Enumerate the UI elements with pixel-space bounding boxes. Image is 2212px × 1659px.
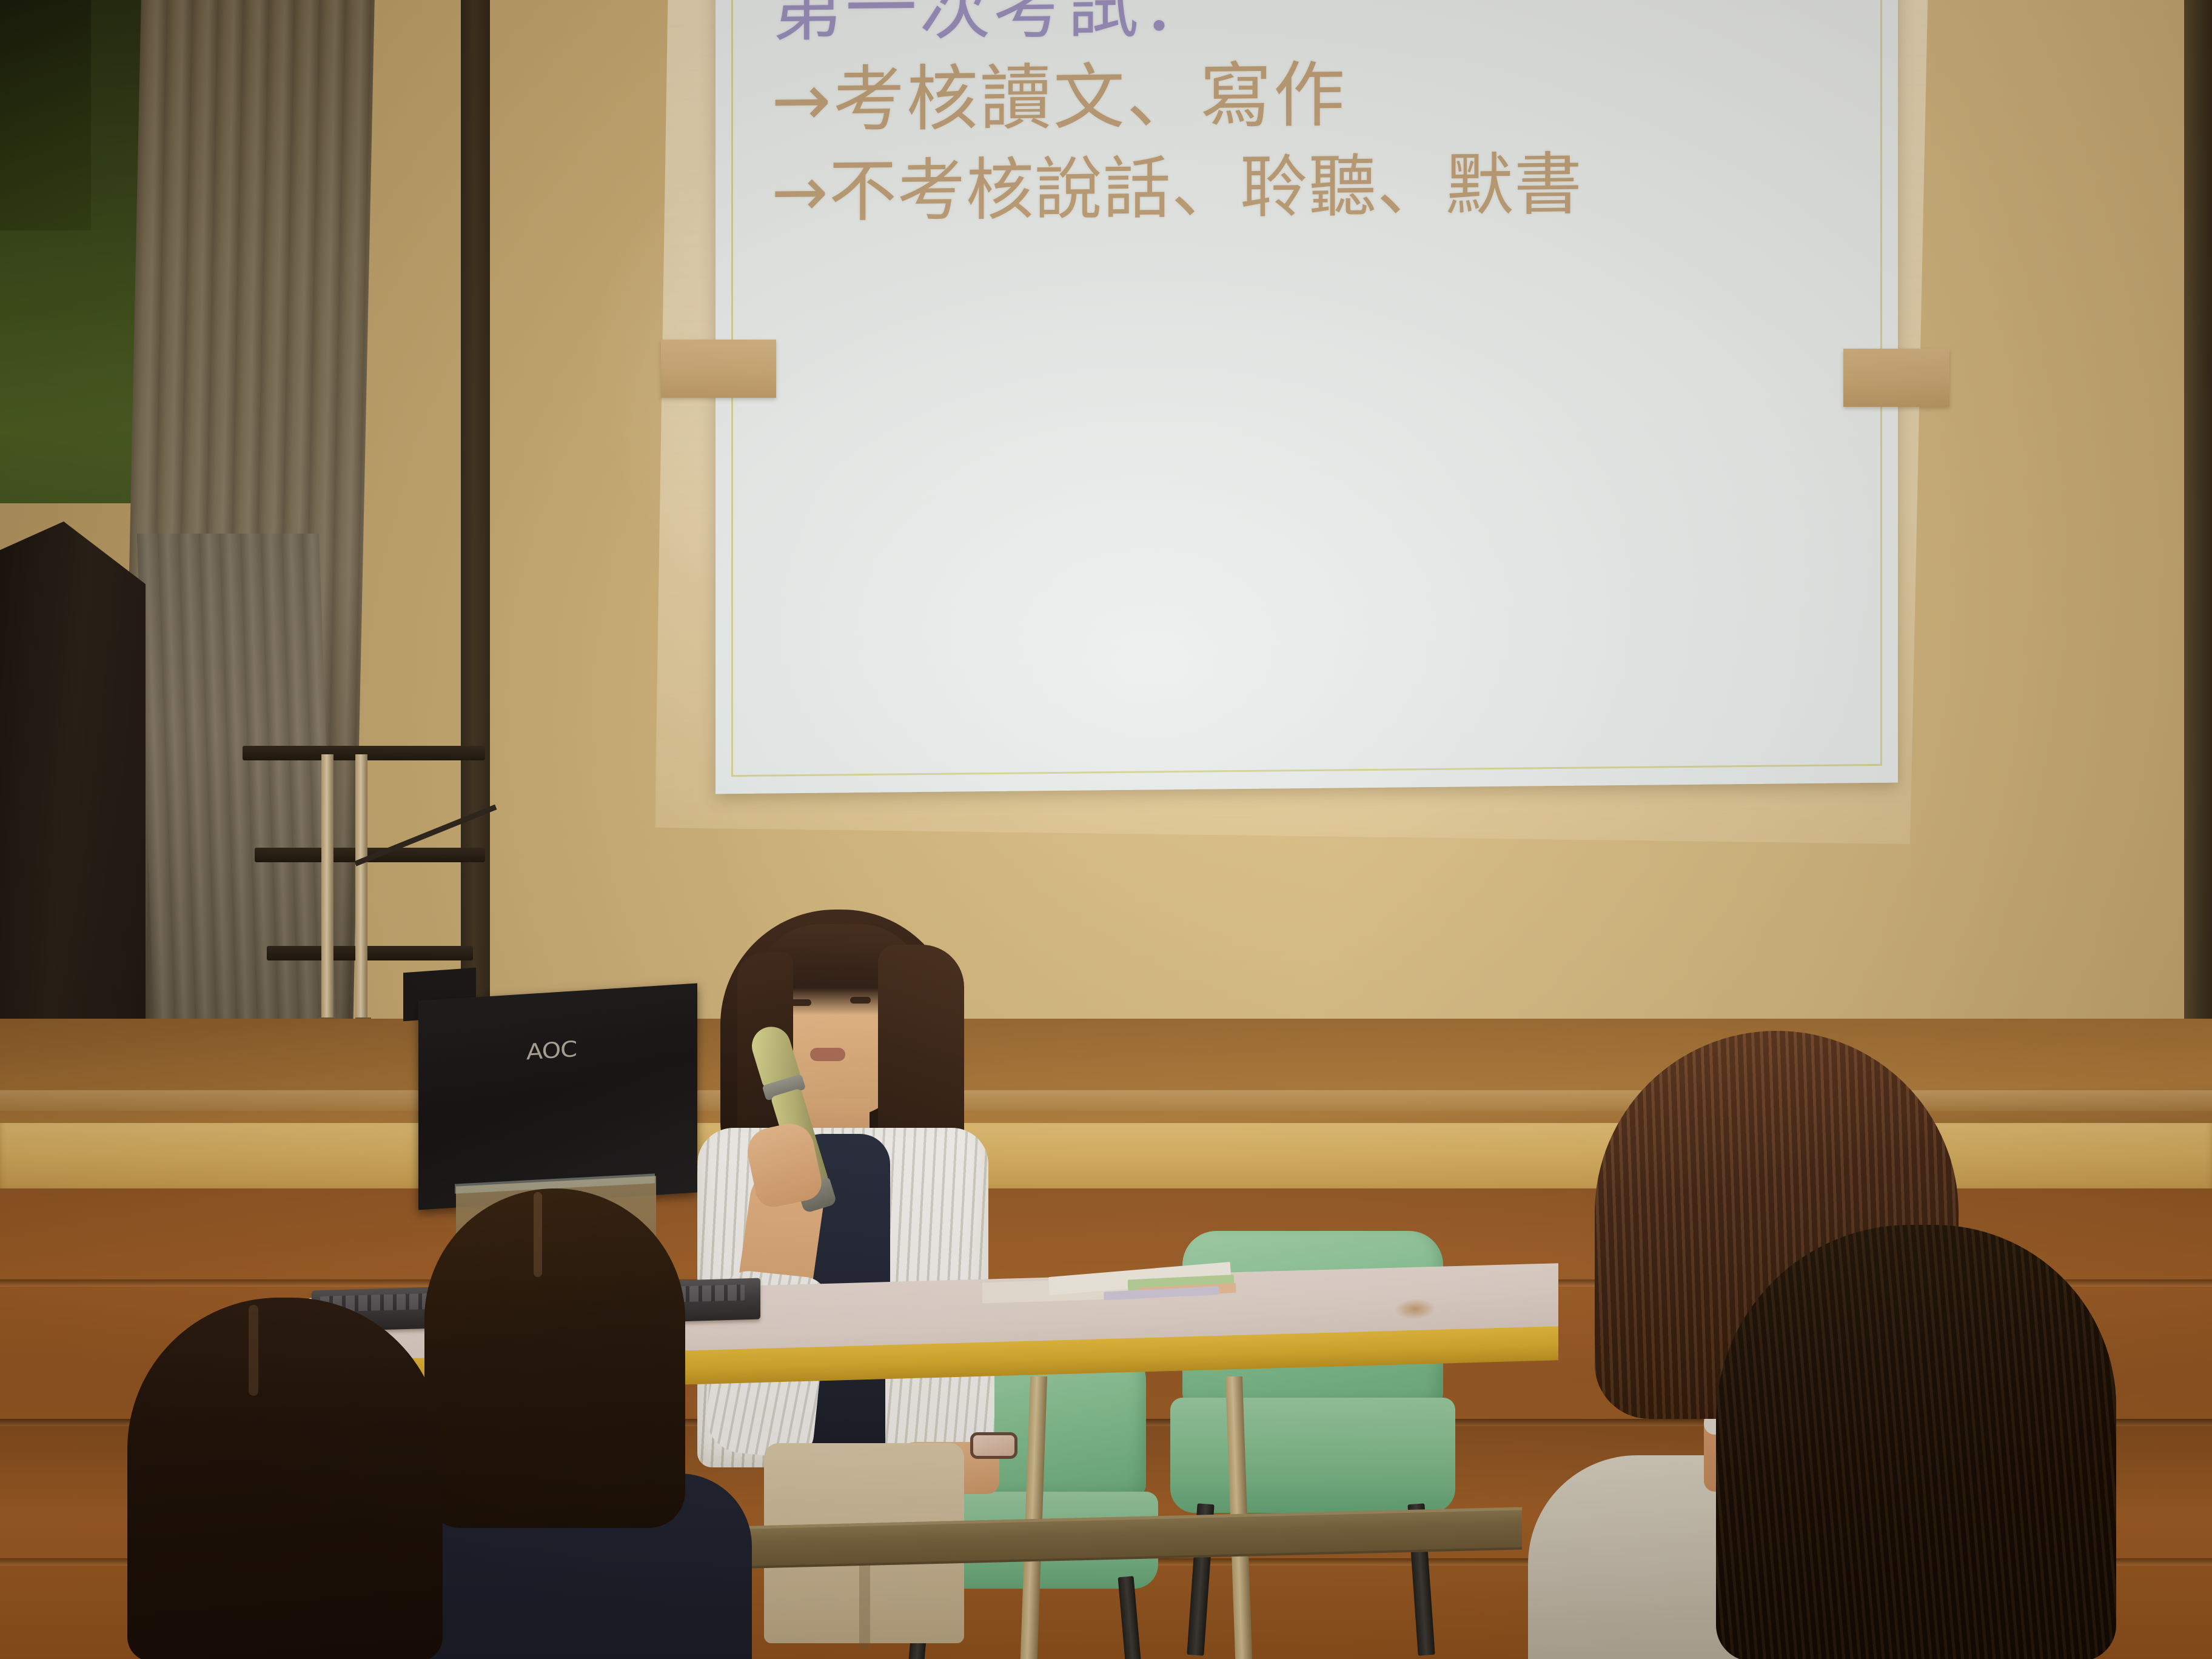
projected-slide: 第一次考試： →考核讀文、寫作 →不考核說話、聆聽、默書 xyxy=(716,0,1898,794)
audience-person-left-front xyxy=(73,1298,509,1659)
audience-a-hair xyxy=(127,1298,443,1659)
audience-person-black-hair xyxy=(1716,1225,2153,1659)
step-tread-low xyxy=(267,946,473,960)
step-post-left xyxy=(321,754,333,1021)
audience-d-hair-texture xyxy=(1716,1225,2116,1659)
computer-monitor: AOC xyxy=(418,981,703,1218)
audience-a-hair-part xyxy=(249,1305,258,1396)
slide-tab-right-icon xyxy=(1843,349,1949,407)
audience-b-hair-part xyxy=(534,1192,542,1277)
olive-wall-shadow xyxy=(0,0,91,230)
slide-tab-left-icon xyxy=(661,340,776,398)
floor-speaker-cabinet xyxy=(0,521,146,1043)
slide-bullet-1: →考核讀文、寫作 xyxy=(771,43,1874,148)
table-leg-right xyxy=(1019,1376,1047,1659)
right-wall-edge xyxy=(2184,0,2212,1098)
step-post-right xyxy=(355,754,367,1021)
photo-scene: 第一次考試： →考核讀文、寫作 →不考核說話、聆聽、默書 AOC xyxy=(0,0,2212,1659)
table-surface-mark xyxy=(1395,1298,1436,1320)
monitor-brand-label: AOC xyxy=(526,1037,577,1065)
presenter-mouth xyxy=(810,1048,845,1061)
slide-bullet-2: →不考核說話、聆聽、默書 xyxy=(771,138,1874,238)
slide-text-block: 第一次考試： →考核讀文、寫作 →不考核說話、聆聽、默書 xyxy=(771,0,1874,238)
